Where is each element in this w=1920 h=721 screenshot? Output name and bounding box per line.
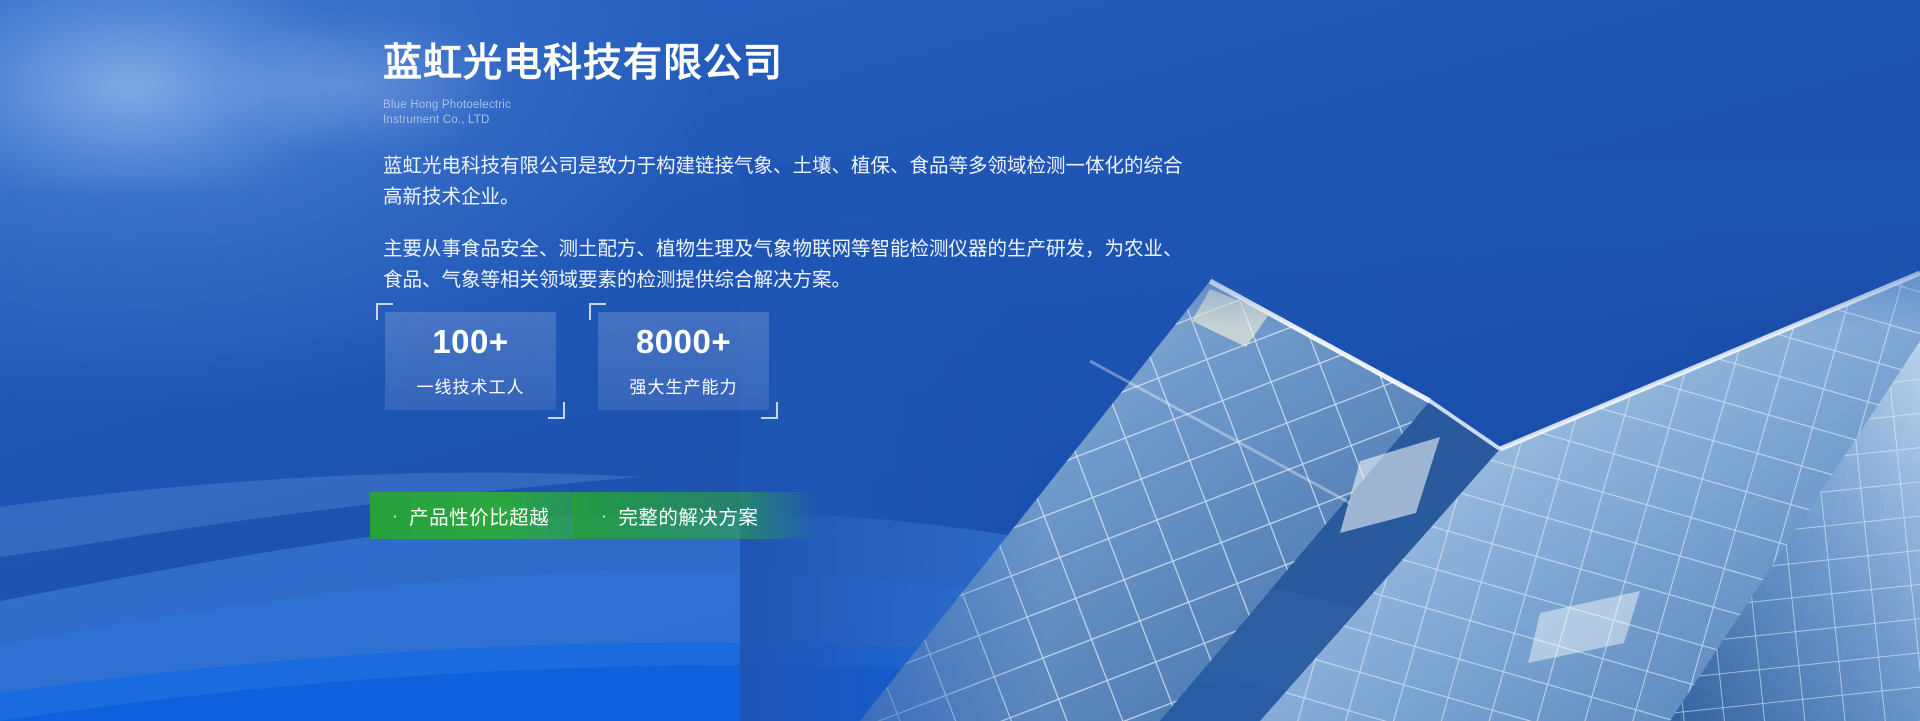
stat-number: 8000+ <box>636 325 731 358</box>
company-description-paragraph-1: 蓝虹光电科技有限公司是致力于构建链接气象、土壤、植保、食品等多领域检测一体化的综… <box>383 151 1183 214</box>
feature-tag-solution[interactable]: · 完整的解决方案 <box>573 492 818 539</box>
page-title: 蓝虹光电科技有限公司 <box>383 0 1583 87</box>
hero-banner: 蓝虹光电科技有限公司 Blue Hong Photoelectric Instr… <box>0 0 1920 721</box>
bullet-dot-icon: · <box>392 507 398 524</box>
stat-card-group: 100+ 一线技术工人 8000+ 强大生产能力 <box>385 312 769 410</box>
hero-content: 蓝虹光电科技有限公司 Blue Hong Photoelectric Instr… <box>383 0 1583 316</box>
feature-tag-label: 完整的解决方案 <box>618 501 758 530</box>
brand-subtitle-english: Blue Hong Photoelectric Instrument Co., … <box>383 98 1583 129</box>
stat-label: 一线技术工人 <box>417 373 525 398</box>
stat-card-workers: 100+ 一线技术工人 <box>385 312 556 410</box>
corner-bracket-top-left-icon <box>376 303 393 320</box>
corner-bracket-bottom-right-icon <box>761 402 778 419</box>
feature-tag-value[interactable]: · 产品性价比超越 <box>370 492 575 539</box>
stat-number: 100+ <box>432 325 508 358</box>
stat-label: 强大生产能力 <box>630 373 738 398</box>
feature-tag-group: · 产品性价比超越 · 完整的解决方案 <box>370 492 818 539</box>
feature-tag-label: 产品性价比超越 <box>409 501 549 530</box>
brand-subtitle-line-1: Blue Hong Photoelectric <box>383 98 1583 114</box>
brand-subtitle-line-2: Instrument Co., LTD <box>383 113 1583 129</box>
bullet-dot-icon: · <box>601 507 607 524</box>
stat-card-capacity: 8000+ 强大生产能力 <box>598 312 769 410</box>
corner-bracket-top-left-icon <box>589 303 606 320</box>
company-description-paragraph-2: 主要从事食品安全、测土配方、植物生理及气象物联网等智能检测仪器的生产研发，为农业… <box>383 234 1183 297</box>
corner-bracket-bottom-right-icon <box>548 402 565 419</box>
